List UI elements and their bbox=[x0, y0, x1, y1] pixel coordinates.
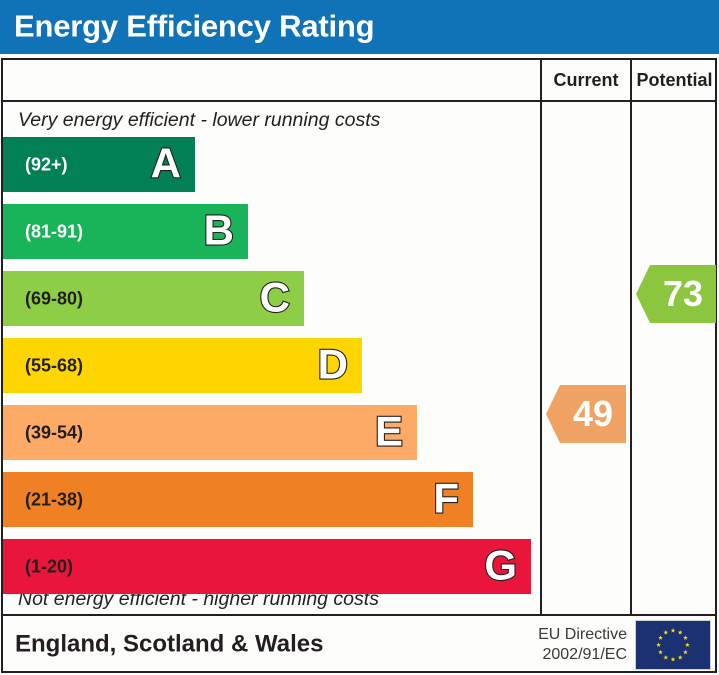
band-range-label: (21-38) bbox=[25, 489, 83, 510]
eu-flag-star bbox=[656, 642, 661, 647]
column-header-potential: Potential bbox=[632, 60, 717, 100]
column-separator-current bbox=[540, 58, 542, 616]
band-range-label: (55-68) bbox=[25, 355, 83, 376]
band-letter: E bbox=[375, 410, 403, 452]
eu-flag-icon bbox=[635, 620, 711, 670]
eu-flag-star bbox=[683, 649, 688, 654]
band-range-label: (39-54) bbox=[25, 422, 83, 443]
eu-flag-star bbox=[658, 635, 663, 640]
eu-flag-star bbox=[658, 649, 663, 654]
band-letter: G bbox=[484, 544, 517, 586]
eu-directive-line1: EU Directive bbox=[538, 625, 627, 645]
eu-flag-star bbox=[683, 635, 688, 640]
band-bar: (81-91)B bbox=[3, 204, 248, 259]
page-title: Energy Efficiency Rating bbox=[14, 8, 374, 44]
header-row-divider bbox=[1, 100, 717, 102]
column-separator-potential bbox=[630, 58, 632, 616]
footer: England, Scotland & Wales EU Directive 2… bbox=[1, 616, 717, 673]
eu-directive-text: EU Directive 2002/91/EC bbox=[538, 625, 627, 665]
current-rating-value: 49 bbox=[559, 396, 613, 432]
footer-region-label: England, Scotland & Wales bbox=[15, 630, 323, 658]
band-bar: (69-80)C bbox=[3, 271, 304, 326]
band-letter: A bbox=[151, 142, 181, 184]
band-bar: (92+)A bbox=[3, 137, 195, 192]
band-bar: (55-68)D bbox=[3, 338, 362, 393]
band-bar: (21-38)F bbox=[3, 472, 473, 527]
eu-flag-star bbox=[663, 630, 668, 635]
eu-flag-star bbox=[663, 654, 668, 659]
band-range-label: (69-80) bbox=[25, 288, 83, 309]
potential-rating-marker: 73 bbox=[636, 265, 716, 323]
eu-flag-star bbox=[678, 630, 683, 635]
eu-flag-star bbox=[678, 654, 683, 659]
eu-flag-star bbox=[671, 628, 676, 633]
band-bar: (39-54)E bbox=[3, 405, 417, 460]
column-header-current: Current bbox=[542, 60, 630, 100]
eu-flag-star bbox=[685, 642, 690, 647]
caption-efficient: Very energy efficient - lower running co… bbox=[18, 109, 380, 132]
band-letter: F bbox=[433, 477, 459, 519]
energy-efficiency-certificate: Energy Efficiency Rating Current Potenti… bbox=[0, 0, 719, 675]
band-range-label: (1-20) bbox=[25, 556, 73, 577]
band-range-label: (92+) bbox=[25, 154, 68, 175]
band-range-label: (81-91) bbox=[25, 221, 83, 242]
band-letter: B bbox=[204, 209, 234, 251]
eu-directive-line2: 2002/91/EC bbox=[538, 645, 627, 665]
title-banner: Energy Efficiency Rating bbox=[0, 0, 719, 54]
current-rating-marker: 49 bbox=[546, 385, 626, 443]
band-letter: C bbox=[260, 276, 290, 318]
potential-rating-value: 73 bbox=[649, 276, 703, 312]
eu-flag-star bbox=[671, 656, 676, 661]
band-bar: (1-20)G bbox=[3, 539, 531, 594]
band-letter: D bbox=[318, 343, 348, 385]
